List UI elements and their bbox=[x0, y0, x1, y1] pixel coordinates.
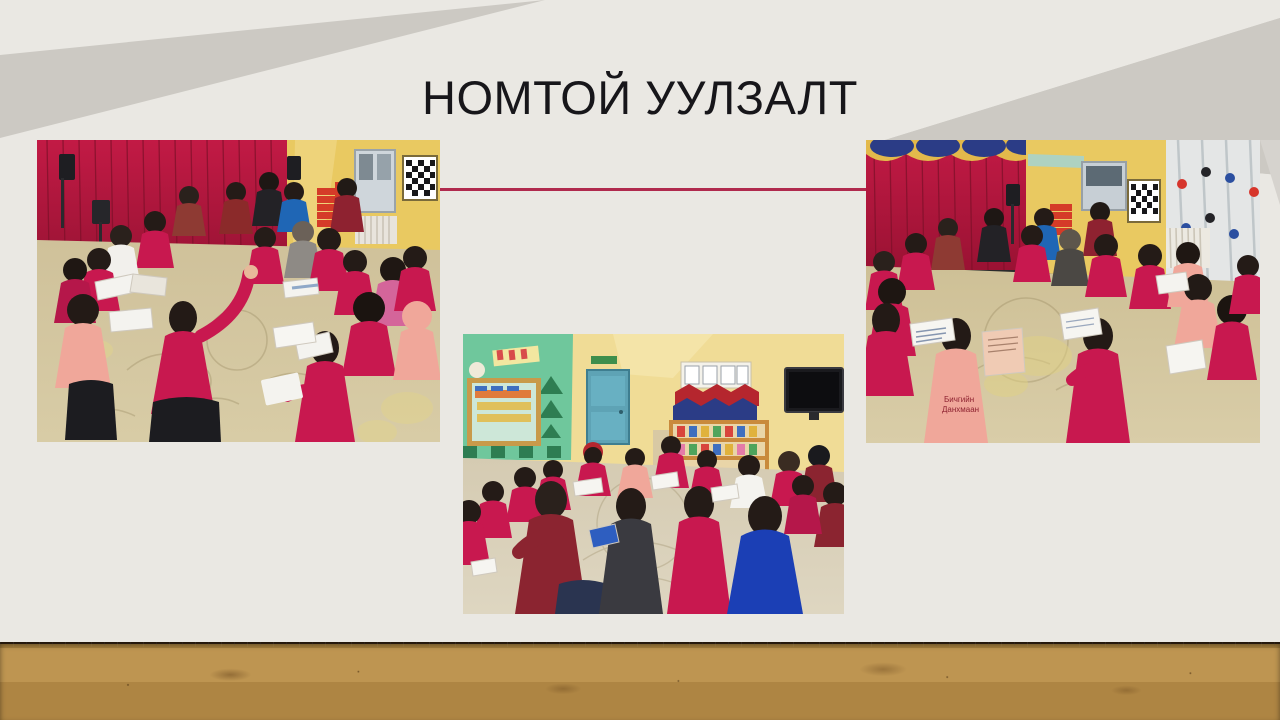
photo-reading-circle-left bbox=[37, 140, 440, 442]
wooden-plank-floor bbox=[0, 642, 1280, 720]
photo-reading-circle-right: Бичгийн Данхмаан bbox=[866, 140, 1260, 443]
presentation-slide: НОМТОЙ УУЛЗАЛТ bbox=[0, 0, 1280, 720]
page-title: НОМТОЙ УУЛЗАЛТ bbox=[0, 72, 1280, 124]
accent-divider bbox=[440, 188, 866, 191]
svg-text:Данхмаан: Данхмаан bbox=[942, 405, 979, 414]
triangle-right-lower bbox=[1260, 140, 1280, 205]
photo-right-artwork: Бичгийн Данхмаан bbox=[866, 140, 1260, 443]
photo-reading-circle-classroom bbox=[463, 334, 844, 614]
photo-center-artwork bbox=[463, 334, 844, 614]
svg-text:Бичгийн: Бичгийн bbox=[944, 395, 974, 404]
photo-left-artwork bbox=[37, 140, 440, 442]
